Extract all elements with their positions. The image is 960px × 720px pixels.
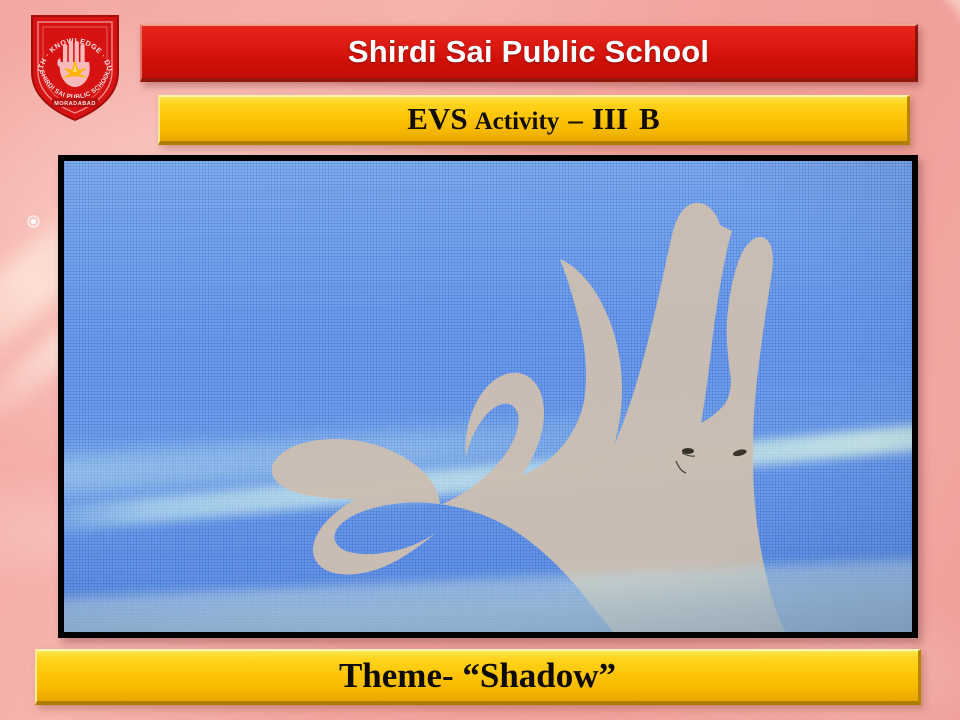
school-name-banner: Shirdi Sai Public School [140, 24, 918, 82]
slide-canvas: FAITH · KNOWLEDGE · DUTY SHIRDI SAI PUBL… [0, 0, 960, 720]
photo-image [64, 161, 912, 632]
photo-vignette [64, 161, 912, 632]
school-name-text: Shirdi Sai Public School [348, 34, 709, 70]
class-roman-text: III [592, 101, 628, 137]
photo-speck [676, 448, 747, 473]
photo-lower-band [64, 544, 912, 632]
background-dot-decoration [27, 215, 40, 228]
theme-bar: Theme- “Shadow” [35, 649, 921, 705]
dash-separator: – [568, 104, 583, 137]
theme-text: Theme- “Shadow” [339, 656, 616, 696]
activity-subtitle-bar: EVS Activity – III B [158, 95, 910, 145]
photo-light-streak [64, 411, 912, 537]
screen-mesh-texture [64, 161, 912, 632]
activity-subtitle-line: EVS Activity – III B [407, 101, 659, 137]
hand-shadow-silhouette [64, 161, 912, 632]
activity-photo-frame [58, 155, 918, 638]
activity-word-text: Activity [475, 108, 560, 136]
section-text: B [639, 101, 660, 137]
photo-light-streak-soft [64, 408, 745, 498]
school-logo: FAITH · KNOWLEDGE · DUTY SHIRDI SAI PUBL… [22, 6, 128, 124]
logo-city-text: MORADABAD [54, 101, 96, 107]
subject-text: EVS [407, 101, 467, 137]
